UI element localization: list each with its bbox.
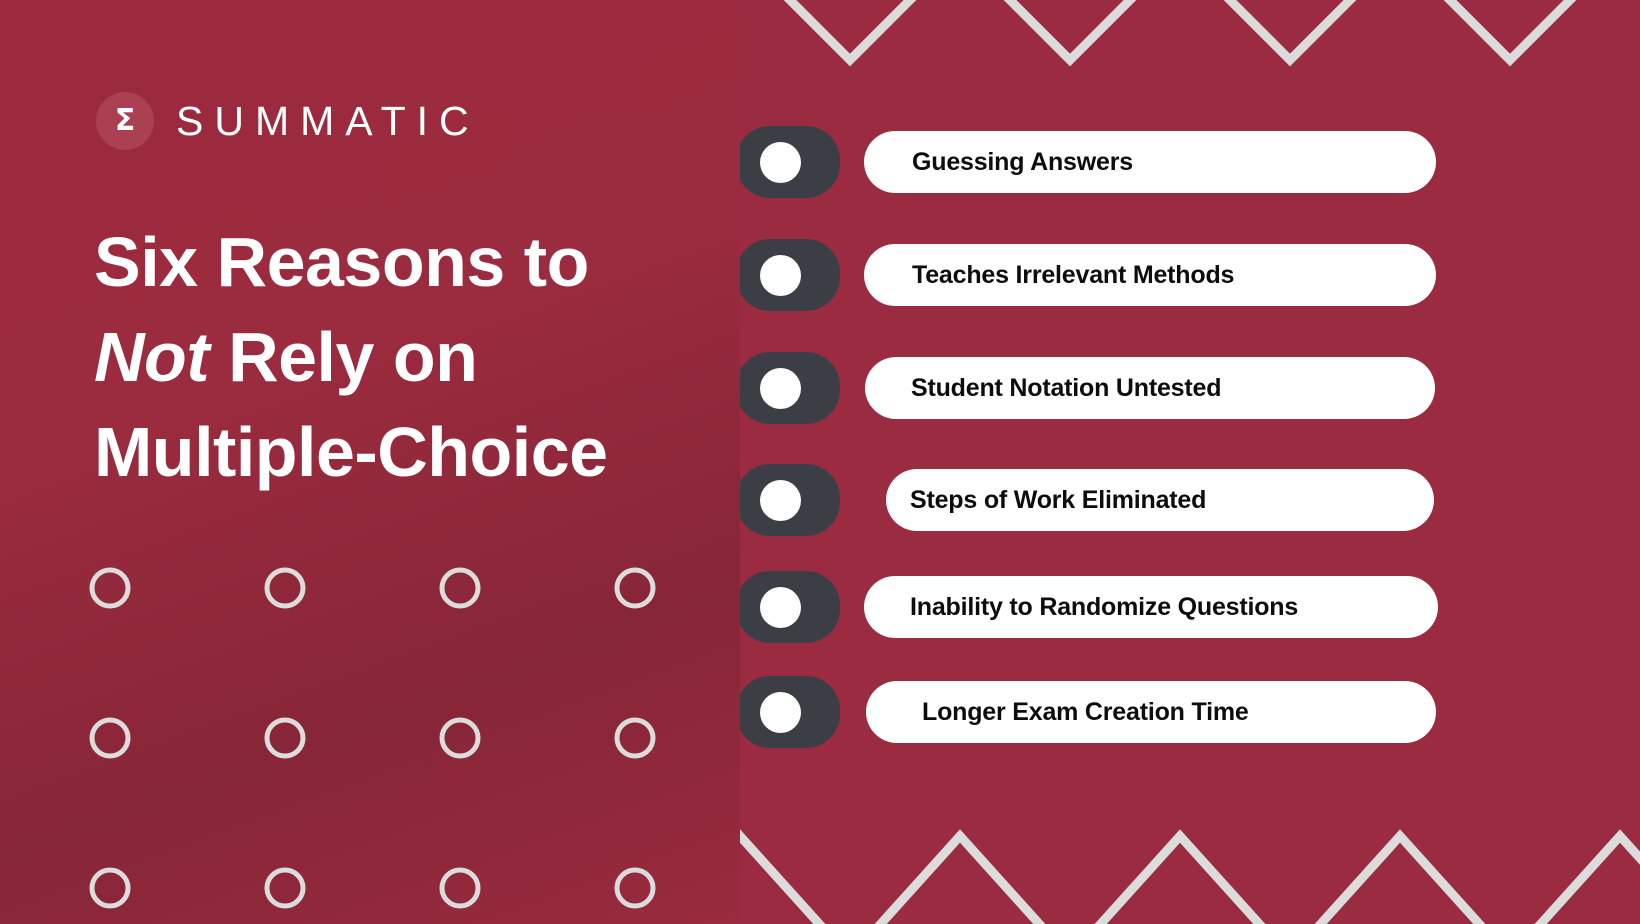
- circle-outline-icon: [442, 570, 478, 606]
- reason-pill-2[interactable]: Teaches Irrelevant Methods: [864, 244, 1436, 306]
- page-title: Six Reasons to Not Rely on Multiple-Choi…: [94, 215, 724, 501]
- brand-logo[interactable]: Σ SUMMATIC: [96, 92, 480, 150]
- reason-row[interactable]: Student Notation Untested: [740, 352, 1435, 424]
- reason-pill-4[interactable]: Steps of Work Eliminated: [886, 469, 1434, 531]
- brand-name: SUMMATIC: [176, 98, 480, 145]
- circle-outline-icon: [442, 870, 478, 906]
- toggle-knob-icon: [760, 587, 801, 628]
- headline-line-2: Not Rely on: [94, 310, 724, 405]
- reason-label: Student Notation Untested: [911, 374, 1221, 403]
- reason-label: Guessing Answers: [912, 148, 1133, 177]
- reason-pill-1[interactable]: Guessing Answers: [864, 131, 1436, 193]
- reason-toggle-4[interactable]: [740, 464, 840, 536]
- circle-outline-icon: [617, 720, 653, 756]
- circle-outline-icon: [267, 870, 303, 906]
- reason-row[interactable]: Steps of Work Eliminated: [740, 464, 1434, 536]
- headline-line-1: Six Reasons to: [94, 215, 724, 310]
- circle-outline-icon: [92, 570, 128, 606]
- left-panel: Σ SUMMATIC Six Reasons to Not Rely on Mu…: [0, 0, 740, 924]
- reason-label: Longer Exam Creation Time: [922, 698, 1249, 727]
- toggle-knob-icon: [760, 692, 801, 733]
- reason-label: Inability to Randomize Questions: [910, 593, 1298, 622]
- headline-emphasis: Not: [94, 318, 209, 396]
- headline-line-3: Multiple-Choice: [94, 405, 724, 500]
- reason-toggle-6[interactable]: [740, 676, 840, 748]
- circle-outline-icon: [442, 720, 478, 756]
- reason-row[interactable]: Longer Exam Creation Time: [740, 676, 1436, 748]
- toggle-knob-icon: [760, 368, 801, 409]
- reason-toggle-1[interactable]: [740, 126, 840, 198]
- reason-pill-5[interactable]: Inability to Randomize Questions: [864, 576, 1438, 638]
- sigma-glyph: Σ: [115, 106, 136, 136]
- reason-pill-6[interactable]: Longer Exam Creation Time: [866, 681, 1436, 743]
- headline-line-2-rest: Rely on: [209, 318, 477, 396]
- reason-toggle-3[interactable]: [740, 352, 840, 424]
- circle-outline-icon: [617, 570, 653, 606]
- circle-outline-icon: [92, 870, 128, 906]
- reason-row[interactable]: Inability to Randomize Questions: [740, 571, 1438, 643]
- right-panel: Guessing AnswersTeaches Irrelevant Metho…: [740, 0, 1640, 924]
- reason-row[interactable]: Guessing Answers: [740, 126, 1436, 198]
- toggle-knob-icon: [760, 142, 801, 183]
- reason-label: Steps of Work Eliminated: [910, 486, 1206, 515]
- reasons-list: Guessing AnswersTeaches Irrelevant Metho…: [740, 0, 1636, 924]
- circle-outline-icon: [267, 720, 303, 756]
- reason-row[interactable]: Teaches Irrelevant Methods: [740, 239, 1436, 311]
- toggle-knob-icon: [760, 480, 801, 521]
- reason-toggle-2[interactable]: [740, 239, 840, 311]
- reason-pill-3[interactable]: Student Notation Untested: [865, 357, 1435, 419]
- reason-label: Teaches Irrelevant Methods: [912, 261, 1234, 290]
- toggle-knob-icon: [760, 255, 801, 296]
- sigma-icon: Σ: [96, 92, 154, 150]
- circle-outline-icon: [92, 720, 128, 756]
- reason-toggle-5[interactable]: [740, 571, 840, 643]
- infographic-canvas: Σ SUMMATIC Six Reasons to Not Rely on Mu…: [0, 0, 1640, 924]
- circle-outline-icon: [267, 570, 303, 606]
- circle-outline-icon: [617, 870, 653, 906]
